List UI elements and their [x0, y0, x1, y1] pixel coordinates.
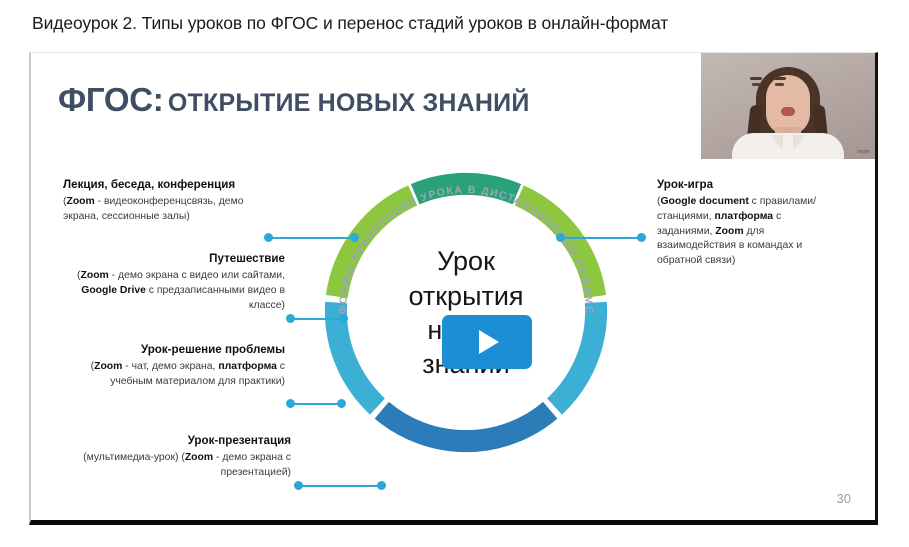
connector-dot-start	[264, 233, 273, 242]
connector-line	[269, 237, 354, 239]
connector-game	[556, 233, 646, 243]
connector-dot-start	[286, 314, 295, 323]
connector-journey	[286, 314, 348, 324]
callout-title: Урок-игра	[657, 177, 837, 192]
presenter-shirt	[732, 133, 844, 159]
connector-dot-end	[637, 233, 646, 242]
callout-title: Путешествие	[63, 251, 285, 266]
connector-line	[561, 237, 641, 239]
callout-title: Лекция, беседа, конференция	[63, 177, 263, 192]
slide-heading-strong: ФГОС:	[58, 81, 163, 118]
slide-heading-rest: ОТКРЫТИЕ НОВЫХ ЗНАНИЙ	[168, 89, 530, 117]
callout-lecture: Лекция, беседа, конференция (Zoom - виде…	[63, 177, 263, 225]
connector-dot-start	[294, 481, 303, 490]
callout-game: Урок-игра (Google document с правилами/с…	[657, 177, 837, 269]
presenter-eyebrow-right	[774, 77, 786, 80]
presenter-face	[766, 75, 810, 135]
callout-title: Урок-презентация	[63, 433, 291, 448]
donut-svg: ФОРМЫ РЕАЛИЗАЦИИ УРОКА В ДИСТАНЦИОННОМ Р…	[306, 153, 626, 473]
presentation-slide: ФГОС: ОТКРЫТИЕ НОВЫХ ЗНАНИЙ	[31, 53, 875, 520]
donut-segment-blue-bottom	[382, 410, 550, 441]
play-icon	[479, 330, 499, 354]
connector-dot-start	[286, 399, 295, 408]
ring-caption: ФОРМЫ РЕАЛИЗАЦИИ УРОКА В ДИСТАНЦИОННОМ Р…	[338, 185, 594, 315]
donut-segment-cyan-lower-right	[555, 303, 597, 407]
donut-ring	[336, 184, 596, 441]
video-lesson-page: Видеоурок 2. Типы уроков по ФГОС и перен…	[0, 0, 909, 547]
presenter-eye-left	[752, 83, 761, 86]
connector-line	[299, 485, 381, 487]
callout-title: Урок-решение проблемы	[63, 342, 285, 357]
callout-body: (Zoom - видеоконференцсвязь, демо экрана…	[63, 195, 263, 225]
presenter-webcam-overlay[interactable]: loom	[701, 53, 875, 159]
slide-page-number: 30	[837, 491, 851, 506]
page-title: Видеоурок 2. Типы уроков по ФГОС и перен…	[32, 13, 668, 34]
connector-presentation	[294, 481, 386, 491]
presenter-collar-left	[771, 135, 783, 151]
presenter-collar-right	[793, 135, 805, 151]
connector-problem-solving	[286, 399, 346, 409]
callout-journey: Путешествие (Zoom - демо экрана с видео …	[63, 251, 285, 313]
presenter-eyebrow-left	[750, 77, 762, 80]
donut-diagram: ФОРМЫ РЕАЛИЗАЦИИ УРОКА В ДИСТАНЦИОННОМ Р…	[306, 153, 626, 473]
connector-dot-start	[556, 233, 565, 242]
callout-body: (Zoom - чат, демо экрана, платформа с уч…	[63, 360, 285, 390]
callout-body: (Google document с правилами/станциями, …	[657, 195, 837, 269]
play-button[interactable]	[442, 315, 532, 369]
webcam-watermark: loom	[857, 149, 870, 155]
connector-dot-end	[350, 233, 359, 242]
callout-body: (Zoom - демо экрана с видео или сайтами,…	[63, 269, 285, 313]
connector-dot-end	[339, 314, 348, 323]
connector-lecture	[264, 233, 359, 243]
presenter-eye-right	[775, 83, 784, 86]
callout-problem-solving: Урок-решение проблемы (Zoom - чат, демо …	[63, 342, 285, 390]
connector-dot-end	[377, 481, 386, 490]
connector-line	[291, 403, 341, 405]
video-player[interactable]: ФГОС: ОТКРЫТИЕ НОВЫХ ЗНАНИЙ	[29, 52, 878, 525]
connector-dot-end	[337, 399, 346, 408]
callout-body: (мультимедиа-урок) (Zoom - демо экрана с…	[63, 451, 291, 481]
slide-heading: ФГОС: ОТКРЫТИЕ НОВЫХ ЗНАНИЙ	[58, 81, 530, 119]
connector-line	[291, 318, 343, 320]
presenter-mouth	[781, 107, 795, 116]
callout-presentation: Урок-презентация (мультимедиа-урок) (Zoo…	[63, 433, 291, 481]
